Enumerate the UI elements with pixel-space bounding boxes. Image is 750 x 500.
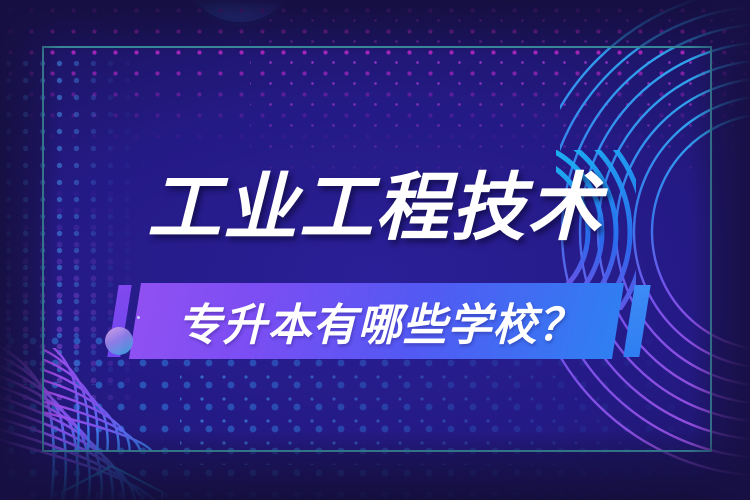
subtitle-banner: 专升本有哪些学校？ — [105, 283, 645, 359]
poster-canvas: 工业工程技术 专升本有哪些学校？ — [0, 0, 750, 500]
page-subtitle: 专升本有哪些学校？ — [105, 283, 645, 359]
page-title: 工业工程技术 — [0, 160, 750, 256]
